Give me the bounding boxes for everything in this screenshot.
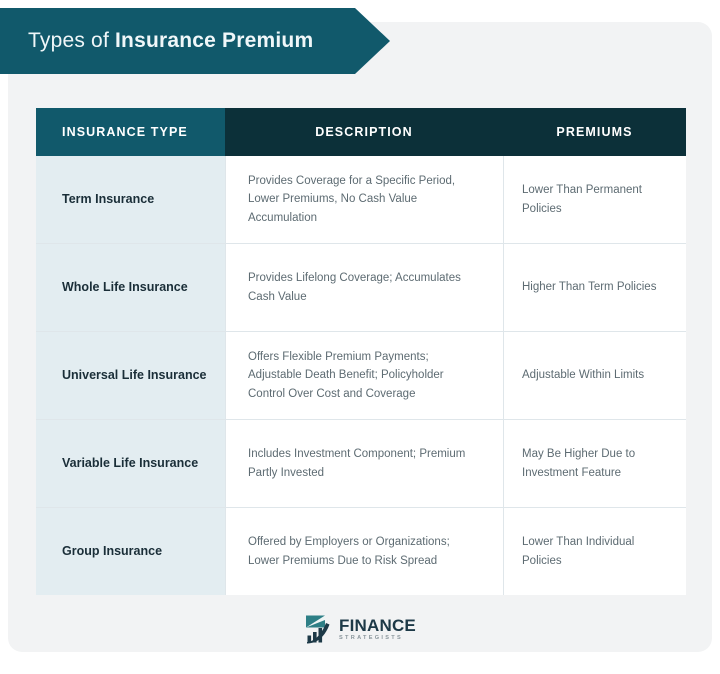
column-header-premiums: PREMIUMS <box>503 108 686 156</box>
column-header-description: DESCRIPTION <box>225 108 503 156</box>
insurance-premium-table: INSURANCE TYPE DESCRIPTION PREMIUMS Term… <box>36 108 686 595</box>
cell-description: Provides Lifelong Coverage; Accumulates … <box>225 244 503 331</box>
cell-premiums: Higher Than Term Policies <box>503 244 686 331</box>
cell-description: Offers Flexible Premium Payments; Adjust… <box>225 332 503 419</box>
cell-premiums: Lower Than Individual Policies <box>503 508 686 595</box>
page-title-light: Types of <box>28 29 115 52</box>
table-row: Variable Life Insurance Includes Investm… <box>36 420 686 508</box>
cell-insurance-type: Whole Life Insurance <box>36 244 225 331</box>
infographic-root: Types of Insurance Premium INSURANCE TYP… <box>0 0 720 674</box>
table-row: Universal Life Insurance Offers Flexible… <box>36 332 686 420</box>
banner-ribbon: Types of Insurance Premium <box>0 8 390 74</box>
table-row: Whole Life Insurance Provides Lifelong C… <box>36 244 686 332</box>
cell-description: Includes Investment Component; Premium P… <box>225 420 503 507</box>
cell-description: Offered by Employers or Organizations; L… <box>225 508 503 595</box>
logo-wordmark: FINANCE STRATEGISTS <box>339 617 416 642</box>
logo-name: FINANCE <box>339 617 416 634</box>
cell-premiums: Adjustable Within Limits <box>503 332 686 419</box>
cell-premiums: May Be Higher Due to Investment Feature <box>503 420 686 507</box>
page-title: Types of Insurance Premium <box>0 29 313 53</box>
table-header-row: INSURANCE TYPE DESCRIPTION PREMIUMS <box>36 108 686 156</box>
cell-insurance-type: Universal Life Insurance <box>36 332 225 419</box>
table-row: Group Insurance Offered by Employers or … <box>36 508 686 595</box>
cell-premiums: Lower Than Permanent Policies <box>503 156 686 243</box>
cell-insurance-type: Variable Life Insurance <box>36 420 225 507</box>
logo-lockup: FINANCE STRATEGISTS <box>304 614 416 644</box>
logo-subtitle: STRATEGISTS <box>339 636 416 642</box>
table-row: Term Insurance Provides Coverage for a S… <box>36 156 686 244</box>
finance-strategists-logo-icon <box>304 614 334 644</box>
page-title-bold: Insurance Premium <box>115 29 313 52</box>
table-body: Term Insurance Provides Coverage for a S… <box>36 156 686 595</box>
cell-insurance-type: Group Insurance <box>36 508 225 595</box>
footer-logo: FINANCE STRATEGISTS <box>0 614 720 644</box>
cell-description: Provides Coverage for a Specific Period,… <box>225 156 503 243</box>
cell-insurance-type: Term Insurance <box>36 156 225 243</box>
column-header-insurance-type: INSURANCE TYPE <box>36 108 225 156</box>
